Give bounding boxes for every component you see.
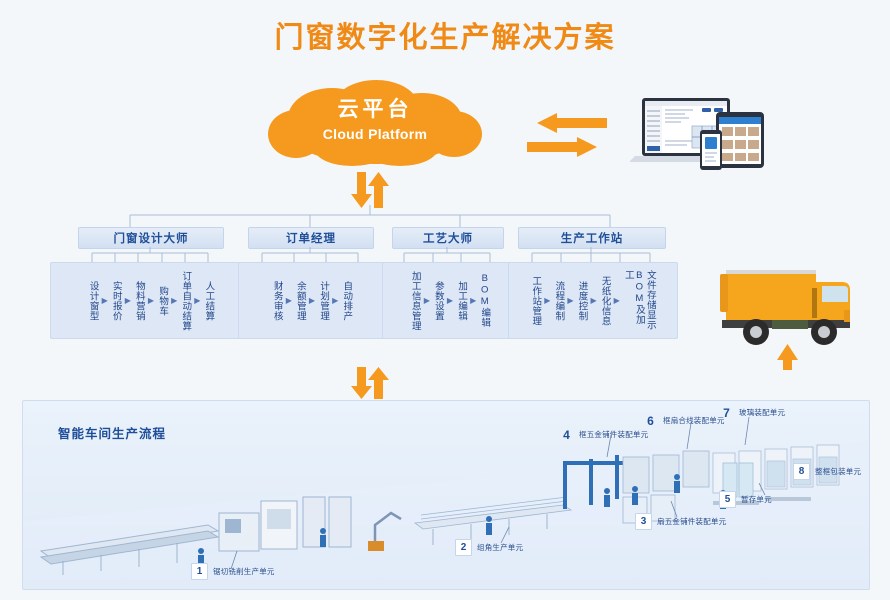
cloud-platform-node: 云平台 Cloud Platform [266,78,484,168]
module-item[interactable]: 无纸化信息 [599,270,612,332]
unit-label: 玻璃装配单元 [739,407,785,418]
chevron-right-icon: ▶ [422,296,432,305]
unit-number: 3 [635,513,652,530]
module-item[interactable]: 人工结算 [202,270,215,332]
workshop-bidirectional-arrow-icon [347,367,393,399]
chevron-right-icon: ▶ [100,296,110,305]
module-2-branch-lines [248,247,372,263]
module-header-process-master[interactable]: 工艺大师 [392,227,504,249]
cloud-platform-labels: 云平台 Cloud Platform [266,98,484,144]
module-item-part-b: BOM及加工 [623,270,645,332]
unit-number: 5 [719,491,736,508]
unit-number: 7 [719,405,734,420]
page-title: 门窗数字化生产解决方案 [0,14,890,56]
module-item[interactable]: 物料营销 [133,270,146,332]
module-header-production-workstation[interactable]: 生产工作站 [518,227,666,249]
module-header-design-master[interactable]: 门窗设计大师 [78,227,224,249]
module-item[interactable]: 设计窗型 [87,270,100,332]
module-item[interactable]: 余额管理 [294,270,307,332]
workshop-unit-2[interactable]: 2 组角生产单元 [455,539,523,556]
module-item[interactable]: BOM编辑 [478,270,491,332]
unit-label: 扇五金铺件装配单元 [657,516,726,527]
chevron-right-icon: ▶ [307,296,317,305]
module-body-design-master: 设计窗型 ▶ 实时报价 ▶ 物料营销 ▶ 购物车 ▶ 订单自动结算 ▶ 人工结算 [50,262,252,339]
workshop-unit-3[interactable]: 3 扇五金铺件装配单元 [635,513,726,530]
chevron-right-icon: ▶ [445,296,455,305]
solution-diagram: 门窗数字化生产解决方案 云平台 Cloud Platform [0,0,890,600]
module-4-branch-lines [518,247,664,263]
cloud-platform-name-cn: 云平台 [266,98,484,122]
chevron-right-icon: ▶ [468,296,478,305]
unit-number: 2 [455,539,472,556]
module-1-branch-lines [78,247,222,263]
module-item[interactable]: 购物车 [156,270,169,332]
workshop-unit-6[interactable]: 6 框扇合线装配单元 [643,413,725,428]
cloud-bidirectional-arrow-icon [347,172,393,208]
chevron-right-icon: ▶ [589,296,599,305]
module-item[interactable]: 财务审核 [271,270,284,332]
workshop-unit-8[interactable]: 8 整框包装单元 [793,463,861,480]
workshop-unit-4[interactable]: 4 框五金铺件装配单元 [559,427,648,442]
unit-number: 8 [793,463,810,480]
module-item-part-a: 文件存储显示 [645,270,656,330]
module-body-process-master: 加工信息管理 ▶ 参数设置 ▶ 加工编辑 ▶ BOM编辑 [382,262,518,339]
module-3-branch-lines [392,247,502,263]
chevron-right-icon: ▶ [192,296,202,305]
module-item[interactable]: 参数设置 [432,270,445,332]
delivery-truck-icon [712,262,870,370]
unit-number: 4 [559,427,574,442]
unit-label: 锯切铣削生产单元 [213,566,275,577]
unit-label: 暂存单元 [741,494,772,505]
chevron-right-icon: ▶ [565,296,575,305]
unit-label: 框扇合线装配单元 [663,415,725,426]
module-item[interactable]: 自动排产 [340,270,353,332]
workshop-unit-7[interactable]: 7 玻璃装配单元 [719,405,785,420]
module-item[interactable]: 计划管理 [317,270,330,332]
module-body-order-manager: 财务审核 ▶ 余额管理 ▶ 计划管理 ▶ 自动排产 [238,262,386,339]
workshop-panel: 智能车间生产流程 [22,400,870,590]
chevron-right-icon: ▶ [123,296,133,305]
chevron-right-icon: ▶ [612,296,622,305]
cloud-platform-name-en: Cloud Platform [266,124,484,144]
module-item[interactable]: 订单自动结算 [179,270,192,332]
module-body-production-workstation: 工作站管理 ▶ 流程编制 ▶ 进度控制 ▶ 无纸化信息 ▶ 文件存储显示 BOM… [508,262,678,339]
module-item[interactable]: 加工信息管理 [409,270,422,332]
module-item[interactable]: 加工编辑 [455,270,468,332]
unit-number: 1 [191,563,208,580]
chevron-right-icon: ▶ [330,296,340,305]
unit-number: 6 [643,413,658,428]
module-item-file-storage[interactable]: 文件存储显示 BOM及加工 [622,270,657,332]
chevron-right-icon: ▶ [284,296,294,305]
unit-label: 框五金铺件装配单元 [579,429,648,440]
chevron-right-icon: ▶ [146,296,156,305]
workshop-unit-1[interactable]: 1 锯切铣削生产单元 [191,563,275,580]
module-tree: 门窗设计大师 设计窗型 ▶ 实时报价 ▶ 物料营销 ▶ 购物车 ▶ 订单自动结算… [40,205,680,365]
module-item[interactable]: 流程编制 [552,270,565,332]
cloud-devices-bidirectional-arrow-icon [527,112,607,158]
module-item[interactable]: 实时报价 [110,270,123,332]
unit-label: 组角生产单元 [477,542,523,553]
unit-label: 整框包装单元 [815,466,861,477]
devices-illustration [630,96,770,172]
module-item[interactable]: 工作站管理 [529,270,542,332]
chevron-right-icon: ▶ [542,296,552,305]
module-header-order-manager[interactable]: 订单经理 [248,227,374,249]
workshop-unit-5[interactable]: 5 暂存单元 [719,491,772,508]
module-item[interactable]: 进度控制 [576,270,589,332]
chevron-right-icon: ▶ [169,296,179,305]
